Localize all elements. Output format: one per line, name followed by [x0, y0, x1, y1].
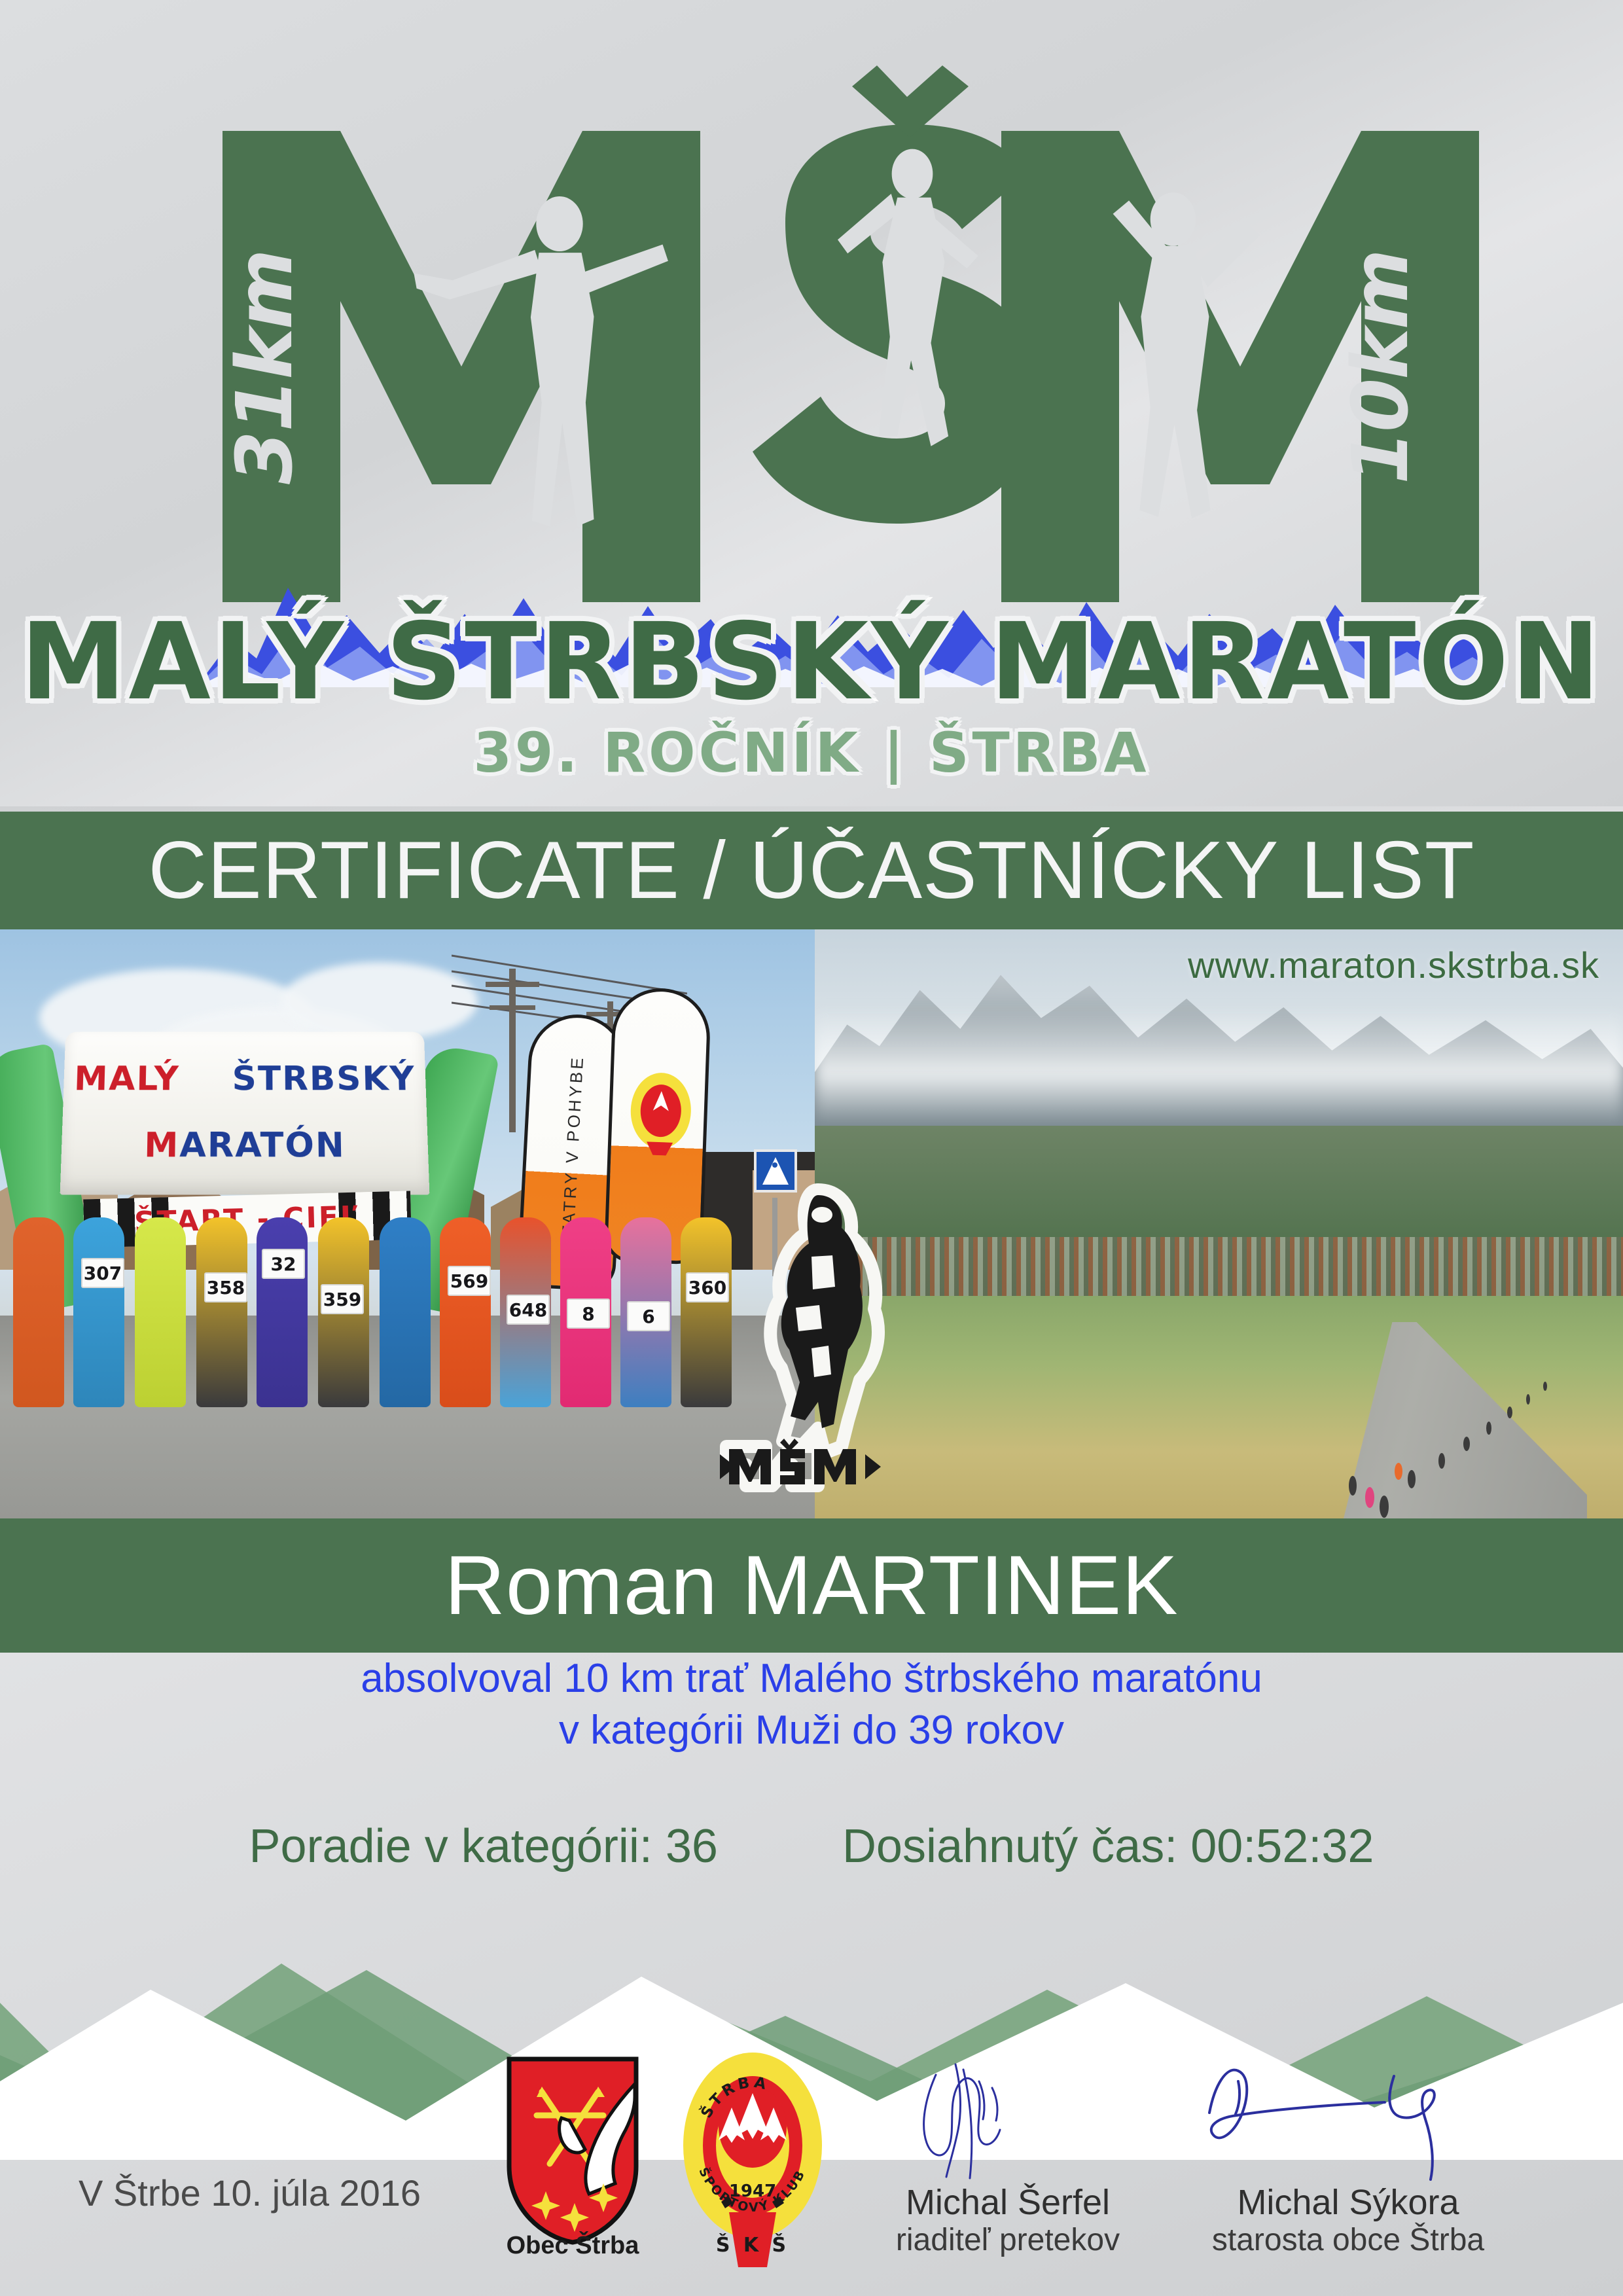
crest-bottom-text: Š K Š	[716, 2233, 789, 2257]
obec-strba-coat-of-arms-icon	[504, 2055, 641, 2245]
msm-logo-block: 31km	[124, 26, 1499, 628]
arch-word-m: M	[144, 1126, 180, 1166]
svg-text:10km: 10km	[1335, 250, 1425, 484]
photo-tatra-landscape: www.maraton.skstrba.sk	[815, 929, 1623, 1518]
bib-number: 32	[262, 1249, 305, 1279]
signature-ink	[857, 2062, 1158, 2183]
crest-year: 1947	[729, 2181, 776, 2201]
bib-number: 8	[567, 1299, 610, 1329]
bib-number: 359	[321, 1284, 364, 1314]
msm-runner-emblem-icon: ◂MŠM▸	[720, 1172, 936, 1499]
participant-name: Roman MARTINEK	[444, 1537, 1178, 1634]
bib-number: 6	[627, 1301, 670, 1331]
arch-word-maly: MALÝ	[73, 1060, 180, 1098]
bib-number: 648	[507, 1295, 550, 1325]
svg-text:31km: 31km	[219, 250, 310, 484]
signature-role: riaditeľ pretekov	[857, 2222, 1158, 2258]
bib-number: 358	[204, 1272, 247, 1302]
runner-silhouette	[135, 1217, 186, 1407]
header-logo-area: 31km	[0, 0, 1623, 806]
signature-name: Michal Sýkora	[1198, 2183, 1499, 2222]
runner-crowd: 307 358 32 359 569 648 8 6 360	[0, 1211, 815, 1518]
page-title: MALÝ ŠTRBSKÝ MARATÓN	[0, 609, 1623, 717]
description-line-1: absolvoval 10 km trať Malého štrbského m…	[0, 1653, 1623, 1704]
arch-word-strbsky: ŠTRBSKÝ	[232, 1060, 416, 1098]
runner-silhouette	[440, 1217, 491, 1407]
finish-time: Dosiahnutý čas: 00:52:32	[842, 1820, 1374, 1873]
arch-banner: MALÝ ŠTRBSKÝ MARATÓN	[60, 1031, 430, 1194]
certificate-page: 31km	[0, 0, 1623, 2296]
runner-silhouette	[196, 1217, 247, 1407]
runner-silhouette	[13, 1217, 64, 1407]
signature-block-director: Michal Šerfel riaditeľ pretekov	[857, 2062, 1158, 2258]
website-url[interactable]: www.maraton.skstrba.sk	[1188, 944, 1599, 986]
certificate-title: CERTIFICATE / ÚČASTNÍCKY LIST	[148, 824, 1474, 917]
participant-name-band: Roman MARTINEK	[0, 1518, 1623, 1653]
distant-runners	[1181, 1322, 1600, 1518]
footer: V Štrbe 10. júla 2016 Obec Štrba	[0, 2036, 1623, 2296]
sks-club-logo-icon	[626, 1069, 694, 1156]
arch-word-araton: ARATÓN	[179, 1126, 346, 1166]
photo-race-start: MALÝ ŠTRBSKÝ MARATÓN ŠTART - CIEĽ TATRY …	[0, 929, 815, 1518]
flag-label-tatry: TATRY V POHYBE	[558, 1055, 588, 1237]
description-line-2: v kategórii Muži do 39 rokov	[0, 1704, 1623, 1756]
msm-wordmark-icon: 31km	[124, 26, 1499, 628]
event-subtitle: 39. ROČNÍK | ŠTRBA	[0, 721, 1623, 785]
mountain-mist	[815, 1008, 1623, 1126]
obec-strba-label: Obec Štrba	[504, 2232, 641, 2260]
arch-banner-line2: MARATÓN	[144, 1126, 346, 1166]
certificate-title-band: CERTIFICATE / ÚČASTNÍCKY LIST	[0, 812, 1623, 929]
event-title-wrap: MALÝ ŠTRBSKÝ MARATÓN 39. ROČNÍK | ŠTRBA	[0, 609, 1623, 785]
signature-name: Michal Šerfel	[857, 2183, 1158, 2222]
issue-date: V Štrbe 10. júla 2016	[79, 2172, 421, 2214]
category-rank: Poradie v kategórii: 36	[249, 1820, 718, 1873]
bib-number: 307	[81, 1258, 124, 1288]
runner-silhouette	[380, 1217, 431, 1407]
runner-silhouette	[257, 1217, 308, 1407]
signature-block-mayor: Michal Sýkora starosta obce Štrba	[1198, 2062, 1499, 2258]
results-row: Poradie v kategórii: 36 Dosiahnutý čas: …	[0, 1820, 1623, 1873]
bib-number: 569	[448, 1266, 491, 1296]
sks-club-crest-icon: ŠTRBA ŠPORTOVÝ KLUB 1947 Š K Š	[674, 2047, 831, 2270]
runner-silhouette	[73, 1217, 124, 1407]
arch-banner-line1: MALÝ ŠTRBSKÝ	[73, 1060, 416, 1098]
signature-role: starosta obce Štrba	[1198, 2222, 1499, 2258]
signature-ink	[1198, 2062, 1499, 2183]
